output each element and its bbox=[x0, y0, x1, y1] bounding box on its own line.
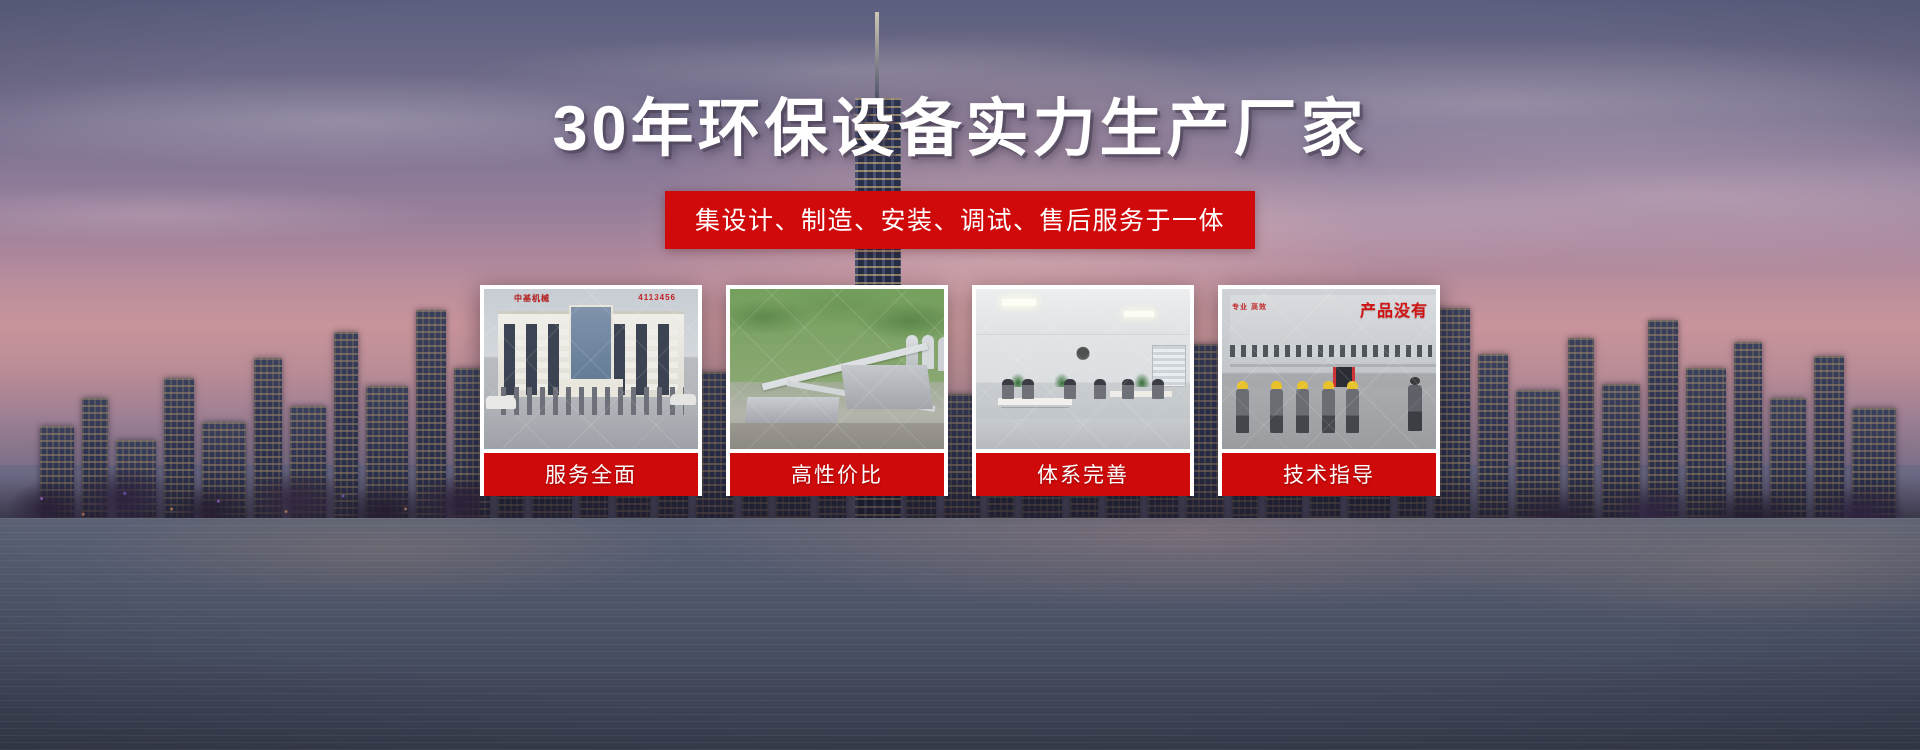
factory-window-strip bbox=[1230, 345, 1432, 357]
worker-with-helmet bbox=[1346, 389, 1359, 433]
ceiling-light-1 bbox=[1002, 299, 1036, 306]
office-worker bbox=[1002, 379, 1014, 399]
hero-headline: 30年环保设备实力生产厂家 bbox=[552, 96, 1367, 163]
card-photo-office-interior bbox=[976, 289, 1190, 449]
office-worker bbox=[1022, 379, 1034, 399]
parked-car-right bbox=[670, 394, 696, 405]
card-caption-text: 技术指导 bbox=[1283, 459, 1375, 489]
factory-hall-right bbox=[841, 365, 933, 409]
office-ceiling bbox=[976, 289, 1190, 335]
card-caption-bar: 体系完善 bbox=[976, 453, 1190, 496]
card-caption-bar: 服务全面 bbox=[484, 453, 698, 496]
card-caption-text: 服务全面 bbox=[545, 459, 637, 489]
card-photo-company-building: 中基机械 4113456 bbox=[484, 289, 698, 449]
office-worker bbox=[1064, 379, 1076, 399]
worker-with-helmet bbox=[1236, 389, 1249, 433]
office-plant-3 bbox=[1134, 373, 1150, 387]
factory-hall-left bbox=[745, 397, 840, 425]
card-caption-text: 高性价比 bbox=[791, 459, 883, 489]
hero-content: 30年环保设备实力生产厂家 集设计、制造、安装、调试、售后服务于一体 中基机械 … bbox=[0, 0, 1920, 750]
hero-subtitle-text: 集设计、制造、安装、调试、售后服务于一体 bbox=[695, 207, 1225, 235]
hero-banner: 30年环保设备实力生产厂家 集设计、制造、安装、调试、售后服务于一体 中基机械 … bbox=[0, 0, 1920, 750]
worker-with-helmet bbox=[1270, 389, 1283, 433]
ceiling-light-2 bbox=[1124, 311, 1154, 317]
factory-banner-text: 产品没有 bbox=[1360, 297, 1428, 321]
feature-card[interactable]: 体系完善 bbox=[972, 285, 1194, 496]
card-caption-bar: 高性价比 bbox=[730, 453, 944, 496]
office-worker bbox=[1122, 379, 1134, 399]
company-phone-text: 4113456 bbox=[638, 293, 676, 302]
feature-card[interactable]: 高性价比 bbox=[726, 285, 948, 496]
office-worker bbox=[1152, 379, 1164, 399]
office-desk-left bbox=[998, 398, 1072, 405]
company-sign-text: 中基机械 bbox=[514, 293, 550, 304]
supervisor bbox=[1408, 385, 1422, 431]
card-caption-bar: 技术指导 bbox=[1222, 453, 1436, 496]
parked-car-left bbox=[486, 396, 516, 409]
office-floor bbox=[976, 419, 1190, 449]
factory-slogan-text: 专业 高效 bbox=[1232, 303, 1332, 314]
card-photo-workers-briefing: 专业 高效 产品没有 bbox=[1222, 289, 1436, 449]
worker-with-helmet bbox=[1296, 389, 1309, 433]
card-caption-text: 体系完善 bbox=[1037, 459, 1129, 489]
feature-card[interactable]: 专业 高效 产品没有 技术指导 bbox=[1218, 285, 1440, 496]
staff-row bbox=[498, 387, 684, 415]
feature-card-list: 中基机械 4113456 服务全面 bbox=[480, 285, 1440, 496]
hero-subtitle-bar: 集设计、制造、安装、调试、售后服务于一体 bbox=[665, 191, 1255, 249]
card-photo-aerial-plant bbox=[730, 289, 944, 449]
feature-card[interactable]: 中基机械 4113456 服务全面 bbox=[480, 285, 702, 496]
worker-with-helmet bbox=[1322, 389, 1335, 433]
plant-yard bbox=[730, 423, 944, 449]
office-worker bbox=[1094, 379, 1106, 399]
wall-emblem bbox=[1066, 339, 1100, 363]
